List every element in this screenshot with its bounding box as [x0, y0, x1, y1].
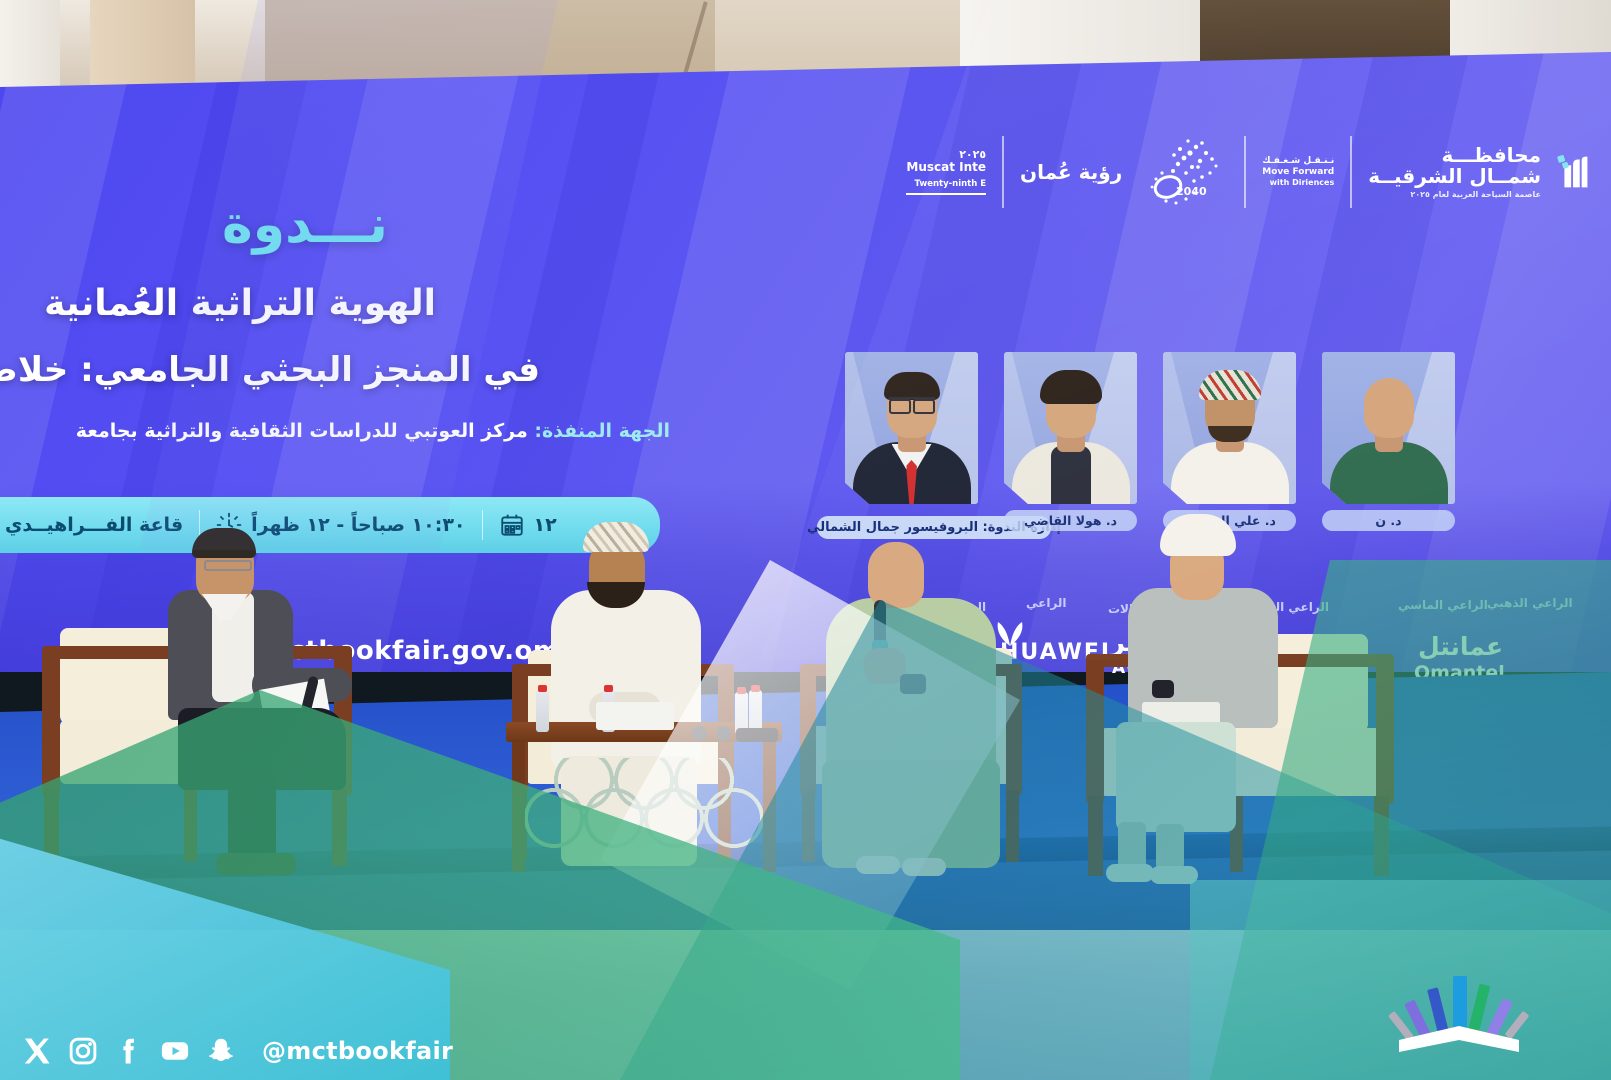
panelist-shoe [1150, 866, 1198, 884]
table-lattice-panel [524, 758, 764, 854]
table-leg-left [512, 742, 525, 872]
person-panelist-turban [1094, 516, 1309, 876]
panelist-trousers [1116, 722, 1236, 832]
portrait-moderator [845, 352, 978, 504]
portrait-panelist [1004, 352, 1137, 504]
organizer-line: الجهة المنفذة: مركز العوتبي للدراسات الث… [0, 420, 670, 442]
portrait-panelist [1163, 352, 1296, 504]
calendar-icon [499, 512, 525, 538]
table-leg-right [763, 742, 776, 872]
bookfair-edition-en: Twenty-ninth E [906, 180, 986, 190]
sponsor-label: الراعي الماسي [1398, 598, 1488, 612]
smartwatch [1152, 680, 1174, 698]
x-icon[interactable] [22, 1036, 52, 1066]
vision-label-ar: رؤية عُمان [1020, 160, 1122, 184]
coffee-table [506, 722, 782, 880]
panelist-name-2: د. ن [1322, 510, 1455, 531]
water-bottle [749, 690, 762, 732]
seminar-title-line2: في المنجز البحثي الجامعي: خلاصات ور [0, 350, 540, 390]
oman-vision-2040-burst-icon: 2040 [1132, 133, 1228, 211]
omani-kumma-cap [583, 522, 649, 552]
person-panelist-speaking [812, 522, 1027, 872]
movement-ar: نـنـقـل شـغـفـك [1262, 156, 1334, 167]
sponsor-label: الراعي [1026, 596, 1067, 610]
oman-vision-logo: رؤية عُمان 2040 [1020, 133, 1228, 211]
tissue-box [596, 702, 674, 730]
panelist-shoe [902, 858, 946, 876]
governorate-logo: محافظـــة شمــال الشرقيــة عاصمة السياحة… [1368, 145, 1597, 200]
table-microphone [692, 726, 707, 741]
instagram-icon[interactable] [68, 1036, 98, 1066]
portrait-frame [1163, 352, 1296, 504]
vision-year: 2040 [1176, 185, 1207, 198]
table-microphone [716, 726, 731, 741]
panelist-head [868, 542, 924, 608]
governorate-text: محافظـــة شمــال الشرقيــة عاصمة السياحة… [1368, 145, 1541, 200]
governorate-line1: محافظـــة [1368, 145, 1541, 167]
panelist-portrait-strip: إدارة الندوة: البروفيسور جمال الشمالي د.… [845, 352, 1455, 531]
bookfair-logo: ٢٠٢٥ Muscat Inte Twenty-ninth E [906, 149, 986, 195]
bookfair-rule [906, 193, 986, 195]
governorate-line3: عاصمة السياحة العربية لعام ٢٠٢٥ [1368, 191, 1541, 200]
movement-en1: Move Forward [1262, 167, 1334, 178]
screenshot-root: نـــدوة الهوية التراثية العُمانية في الم… [0, 0, 1611, 1080]
white-turban [1160, 514, 1236, 556]
abaya-skirt [822, 760, 1000, 868]
governorate-line2: شمــال الشرقيــة [1368, 166, 1541, 188]
water-bottle [536, 690, 549, 732]
omantel-logo-ar: عمانتل [1418, 632, 1503, 661]
movement-en2: with Diriences [1262, 178, 1334, 188]
panelist-card-moderator: إدارة الندوة: البروفيسور جمال الشمالي [845, 352, 978, 531]
chair-arm-right [1376, 654, 1394, 804]
facebook-icon[interactable] [114, 1036, 144, 1066]
sponsor-label: الراعي الذهبي [1487, 596, 1573, 610]
logo-divider [1002, 136, 1004, 208]
bookfair-name-en: Muscat Inte [906, 161, 986, 174]
vision-text: رؤية عُمان [1020, 160, 1122, 184]
portrait-frame [845, 352, 978, 504]
panelist-lower-leg [1118, 822, 1146, 870]
portrait-panelist [1322, 352, 1455, 504]
panelist-shoe [856, 856, 900, 874]
chair-leg [1374, 796, 1389, 876]
panelist-shoe [1106, 864, 1154, 882]
smartwatch [900, 674, 926, 694]
social-icon-row: @mctbookfair [22, 1036, 453, 1066]
organizer-value: مركز العوتبي للدراسات الثقافية والتراثية… [76, 420, 528, 442]
movement-text: نـنـقـل شـغـفـك Move Forward with Dirien… [1262, 156, 1334, 187]
snapchat-icon[interactable] [206, 1036, 236, 1066]
panelist-lower-leg [1156, 824, 1184, 870]
screen-logo-row: ٢٠٢٥ Muscat Inte Twenty-ninth E رؤية عُم… [906, 133, 1597, 211]
portrait-blouse [1051, 446, 1091, 504]
logo-divider [1244, 136, 1246, 208]
eyeglasses-icon [889, 397, 935, 408]
panelist-card-1: د. علي المالكي [1163, 352, 1296, 531]
person-moderator [120, 508, 365, 868]
moderator-shoe [216, 853, 296, 875]
seminar-title-line1: الهوية التراثية العُمانية [6, 283, 436, 324]
social-handle: @mctbookfair [262, 1037, 453, 1065]
moderator-hair [192, 528, 256, 558]
panelist-card-2: د. ن [1322, 352, 1455, 531]
info-divider [482, 510, 483, 540]
eyeglasses-icon [204, 560, 252, 571]
notebook [1142, 702, 1220, 724]
movement-tagline-logo: نـنـقـل شـغـفـك Move Forward with Dirien… [1262, 156, 1334, 187]
panelist-card-0: د. هولا القاضي [1004, 352, 1137, 531]
chair-leg [44, 788, 59, 866]
bookfair-logo-text: ٢٠٢٥ Muscat Inte Twenty-ninth E [906, 149, 986, 195]
portrait-frame [1004, 352, 1137, 504]
footer-social-bar: @mctbookfair [0, 994, 1611, 1080]
portrait-hair [1040, 370, 1102, 404]
north-sharqiyah-emblem-icon [1551, 149, 1597, 195]
seminar-kicker: نـــدوة [140, 195, 470, 255]
portrait-frame [1322, 352, 1455, 504]
portrait-face [1364, 378, 1414, 438]
organizer-label: الجهة المنفذة: [534, 420, 670, 442]
youtube-icon[interactable] [160, 1036, 190, 1066]
tablet-device [736, 728, 778, 742]
muscat-book-fair-logo [1369, 948, 1549, 1058]
portrait-hair [884, 372, 940, 400]
chair-arm-left [42, 646, 60, 796]
logo-divider [1350, 136, 1352, 208]
